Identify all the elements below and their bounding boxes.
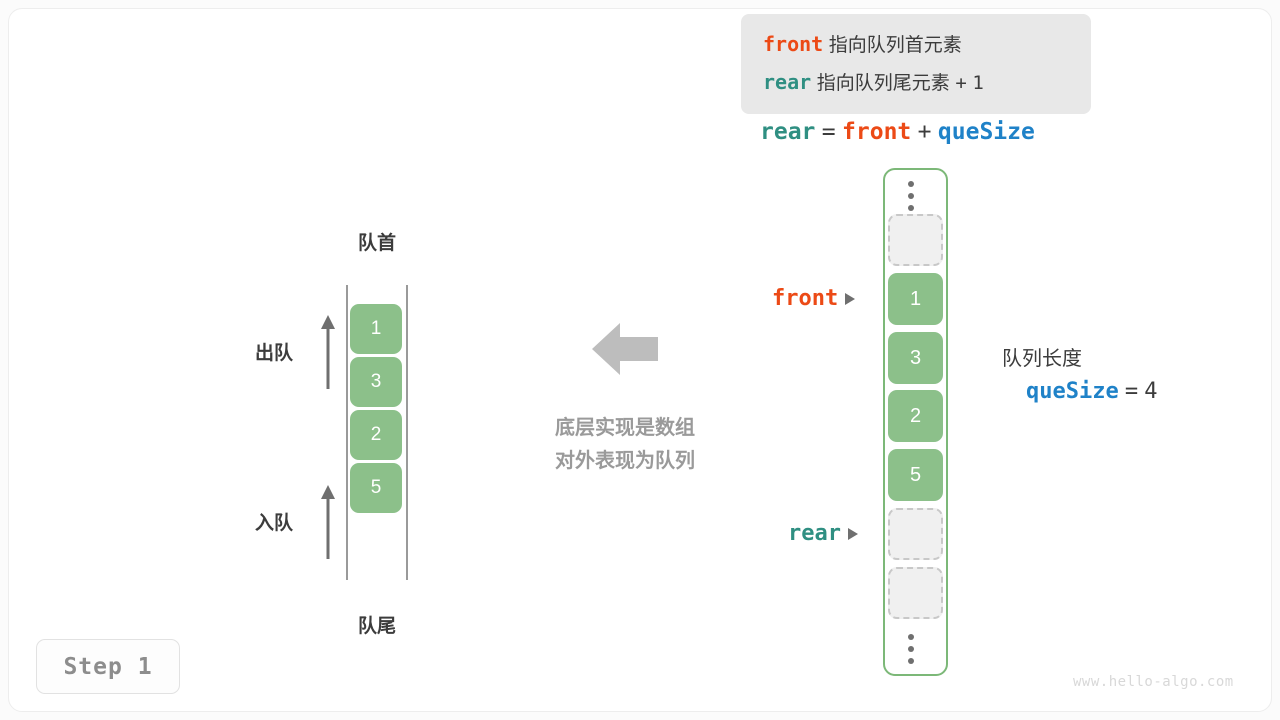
formula-rear: rear xyxy=(760,119,815,145)
quesize-equals: = xyxy=(1125,379,1138,404)
rear-formula: rear = front + queSize xyxy=(760,118,1035,145)
note-line-rear: rear 指向队列尾元素 + 1 xyxy=(763,64,1091,102)
queue-tail-label: 队尾 xyxy=(347,611,407,638)
array-slot: 5 xyxy=(888,449,943,501)
enqueue-label: 入队 xyxy=(255,508,293,535)
queue-cell: 3 xyxy=(350,357,402,407)
queue-cell: 2 xyxy=(350,410,402,460)
array-slot xyxy=(888,508,943,560)
watermark: www.hello-algo.com xyxy=(1073,674,1234,690)
quesize-title: 队列长度 xyxy=(1002,342,1082,371)
formula-equals: = xyxy=(822,119,836,145)
vertical-ellipsis-icon xyxy=(908,181,914,217)
middle-caption: 底层实现是数组 对外表现为队列 xyxy=(520,412,730,478)
step-badge: Step 1 xyxy=(36,639,180,694)
formula-quesize: queSize xyxy=(938,119,1035,145)
rear-pointer-label: rear xyxy=(788,521,841,546)
quesize-expression: queSize = 4 xyxy=(1026,378,1157,404)
queue-cell: 1 xyxy=(350,304,402,354)
note-rear-number: 1 xyxy=(972,72,983,94)
formula-plus: + xyxy=(918,119,932,145)
note-front-keyword: front xyxy=(763,32,823,56)
quesize-name: queSize xyxy=(1026,379,1119,404)
note-front-text: 指向队列首元素 xyxy=(829,35,962,56)
diagram-canvas: front 指向队列首元素 rear 指向队列尾元素 + 1 rear = fr… xyxy=(0,0,1280,720)
array-slot: 1 xyxy=(888,273,943,325)
array-slot: 3 xyxy=(888,332,943,384)
note-line-front: front 指向队列首元素 xyxy=(763,26,1091,64)
queue-cell: 5 xyxy=(350,463,402,513)
front-pointer-label: front xyxy=(772,286,838,311)
middle-caption-line2: 对外表现为队列 xyxy=(520,445,730,478)
pointer-definition-note: front 指向队列首元素 rear 指向队列尾元素 + 1 xyxy=(741,14,1091,114)
array-slot xyxy=(888,567,943,619)
middle-caption-line1: 底层实现是数组 xyxy=(520,412,730,445)
front-pointer-arrow-icon xyxy=(845,293,855,305)
note-rear-plus: + xyxy=(955,72,966,94)
note-rear-text: 指向队列尾元素 xyxy=(817,73,950,94)
front-pointer: front xyxy=(772,286,855,311)
vertical-ellipsis-icon xyxy=(908,634,914,670)
queue-rail-left xyxy=(346,285,348,580)
note-rear-keyword: rear xyxy=(763,70,811,94)
quesize-value: 4 xyxy=(1144,379,1157,404)
formula-front: front xyxy=(842,119,911,145)
array-slot xyxy=(888,214,943,266)
queue-rail-right xyxy=(406,285,408,580)
queue-head-label: 队首 xyxy=(347,228,407,255)
rear-pointer-arrow-icon xyxy=(848,528,858,540)
dequeue-arrow-icon xyxy=(320,315,336,390)
left-pointing-arrow-icon xyxy=(592,320,658,378)
array-slot: 2 xyxy=(888,390,943,442)
dequeue-label: 出队 xyxy=(255,338,293,365)
enqueue-arrow-icon xyxy=(320,485,336,560)
rear-pointer: rear xyxy=(788,521,858,546)
